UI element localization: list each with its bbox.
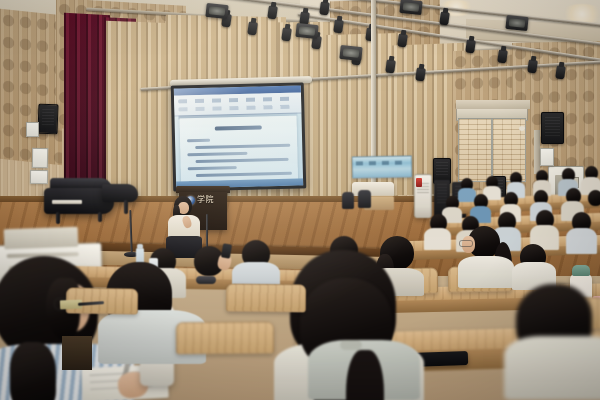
- thermos-lid: [572, 265, 590, 276]
- eyeglasses: [459, 240, 473, 247]
- seat-back-mid-2: [226, 284, 306, 313]
- attendee-shirt: [504, 336, 600, 400]
- attendee-right-front: [300, 278, 440, 400]
- attendee-far-right-front: [508, 290, 600, 400]
- desk-shelf-gap: [62, 336, 92, 370]
- seat-back-front-left: [176, 322, 274, 355]
- lecture-hall-photo: 学院: [0, 0, 600, 400]
- hair-tie: [340, 340, 362, 350]
- wristwatch: [196, 276, 216, 284]
